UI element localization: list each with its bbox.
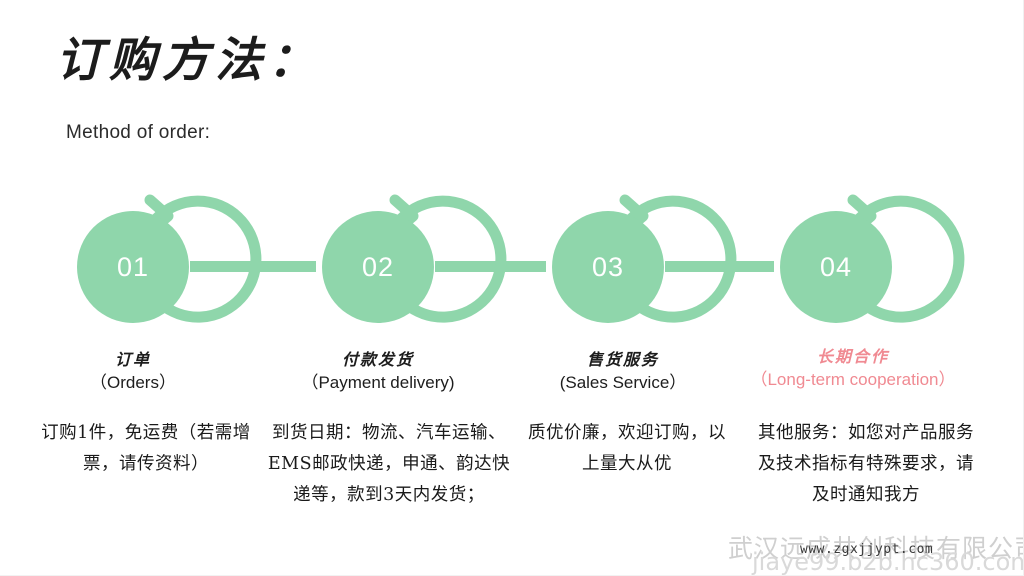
step-caption-2: 付款发货 （Payment delivery) (278, 348, 478, 396)
step-label-chinese-3: 售货服务 (523, 348, 723, 371)
step-node-3[interactable]: 03 (533, 192, 683, 342)
step-number-3: 03 (533, 192, 683, 342)
step-label-chinese-4: 长期合作 (728, 345, 978, 368)
step-number-1: 01 (58, 192, 208, 342)
step-caption-3: 售货服务 (Sales Service） (523, 348, 723, 396)
page-title-english: Method of order: (66, 122, 210, 144)
step-body-2: 到货日期：物流、汽车运输、EMS邮政快递，申通、韵达快递等，款到3天内发货； (264, 418, 514, 511)
step-label-english-1: （Orders） (33, 371, 233, 396)
step-label-english-3: (Sales Service） (523, 371, 723, 396)
slide-canvas: 订购方法： Method of order: 01 02 (0, 0, 1024, 576)
step-node-4[interactable]: 04 (761, 192, 911, 342)
step-number-2: 02 (303, 192, 453, 342)
step-label-chinese-2: 付款发货 (278, 348, 478, 371)
step-node-1[interactable]: 01 (58, 192, 208, 342)
step-caption-4: 长期合作 （Long-term cooperation） (728, 345, 978, 393)
step-node-2[interactable]: 02 (303, 192, 453, 342)
step-number-4: 04 (761, 192, 911, 342)
step-label-english-2: （Payment delivery) (278, 371, 478, 396)
page-title-chinese: 订购方法： (56, 34, 321, 88)
step-label-chinese-1: 订单 (33, 348, 233, 371)
step-body-3: 质优价廉，欢迎订购，以上量大从优 (528, 418, 726, 480)
step-body-4: 其他服务：如您对产品服务及技术指标有特殊要求，请及时通知我方 (752, 418, 980, 511)
watermark-url: www.zgxjjypt.com (800, 542, 933, 557)
step-caption-1: 订单 （Orders） (33, 348, 233, 396)
process-flow-diagram: 01 02 03 04 (0, 165, 1024, 335)
step-body-1: 订购1件，免运费（若需增票，请传资料） (38, 418, 254, 480)
step-label-english-4: （Long-term cooperation） (728, 368, 978, 393)
